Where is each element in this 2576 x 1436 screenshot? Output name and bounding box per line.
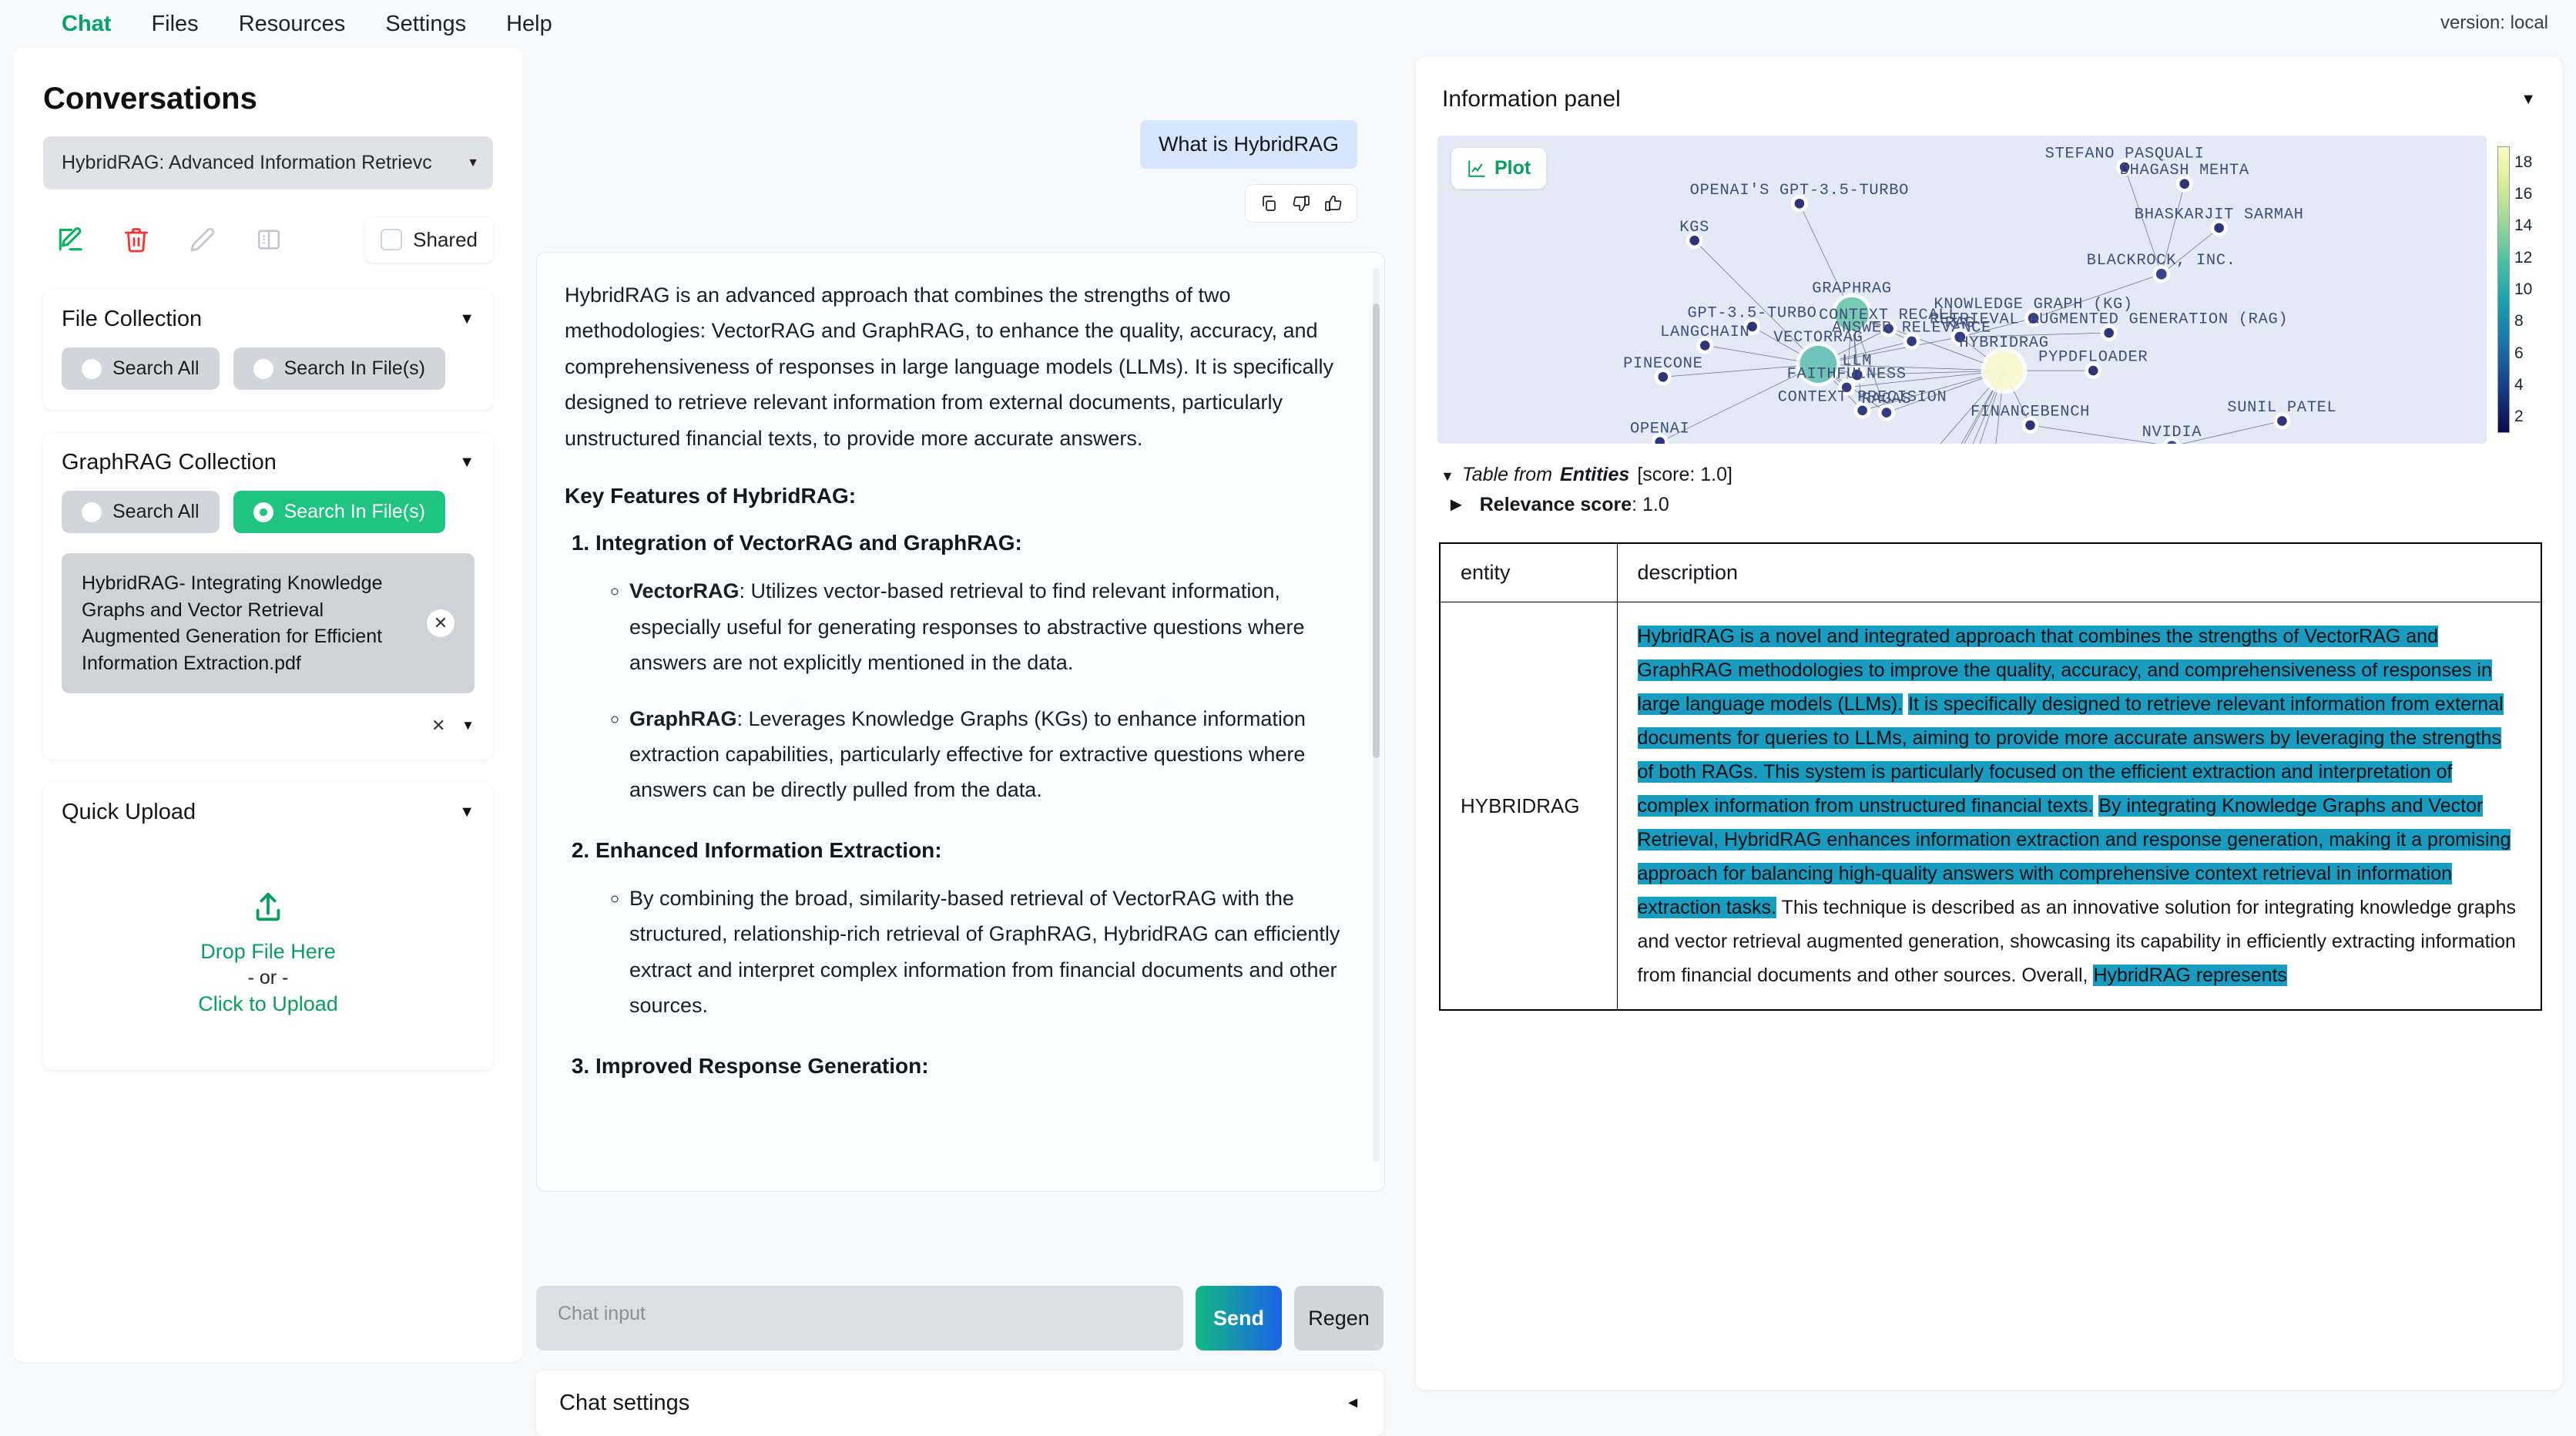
information-panel-header[interactable]: Information panel ▼: [1442, 86, 2536, 112]
file-collection-title: File Collection: [62, 307, 202, 332]
graphrag-collection-card: GraphRAG Collection ▼ Search All Search …: [43, 433, 493, 760]
header-entity: entity: [1440, 543, 1617, 602]
option-label: Search In File(s): [284, 501, 425, 523]
nav-item-settings[interactable]: Settings: [385, 12, 466, 37]
feature-item-1: Integration of VectorRAG and GraphRAG: V…: [595, 527, 1353, 808]
version-label: version: local: [2440, 12, 2548, 34]
chat-scroll-area: What is HybridRAG: [536, 57, 1397, 1266]
key-features-heading: Key Features of HybridRAG:: [565, 484, 1353, 508]
assistant-intro: HybridRAG is an advanced approach that c…: [565, 277, 1353, 456]
feature-2-sublist: By combining the broad, similarity-based…: [629, 881, 1353, 1024]
triangle-down-icon[interactable]: ▼: [1441, 468, 1454, 485]
graph-canvas: STEFANO PASQUALIDHAGASH MEHTABHASKARJIT …: [1437, 136, 2487, 444]
shared-label: Shared: [413, 228, 478, 252]
graph-node-label: PYPDFLOADER: [2038, 349, 2148, 367]
chat-settings-label: Chat settings: [559, 1391, 689, 1416]
assistant-scrollbar-thumb[interactable]: [1373, 304, 1380, 758]
relevance-label: Relevance score: [1480, 494, 1632, 515]
features-list: Integration of VectorRAG and GraphRAG: V…: [595, 527, 1353, 1082]
radio-dot-icon: [253, 359, 273, 379]
quick-upload-card: Quick Upload ▼ Drop File Here - or - Cli…: [43, 783, 493, 1070]
colorbar-tick: 4: [2514, 376, 2524, 394]
graph-node-label: OPENAI'S GPT-3.5-TURBO: [1690, 182, 1909, 200]
message-actions: [1245, 184, 1357, 223]
quick-upload-title: Quick Upload: [62, 800, 196, 825]
graph-node-label: BLACKROCK, INC.: [2087, 252, 2236, 270]
file-chip-footer: ✕ ▼: [62, 712, 475, 740]
chat-column: What is HybridRAG: [536, 48, 1397, 1436]
graph-node-label: BHASKARJIT SARMAH: [2135, 206, 2304, 223]
nav-item-help[interactable]: Help: [506, 12, 552, 37]
feature-item-2: Enhanced Information Extraction: By comb…: [595, 834, 1353, 1024]
nav-items: Chat Files Resources Settings Help: [62, 12, 552, 37]
feature-item-3: Improved Response Generation:: [595, 1050, 1353, 1082]
plot-button[interactable]: Plot: [1451, 148, 1546, 189]
colorbar-tick: 12: [2514, 249, 2532, 267]
user-message-row: What is HybridRAG: [536, 120, 1385, 169]
feature-2-title: Enhanced Information Extraction:: [595, 838, 942, 862]
colorbar: [2497, 146, 2510, 433]
information-panel-title: Information panel: [1442, 86, 1621, 112]
graphrag-search-all[interactable]: Search All: [62, 491, 220, 533]
information-panel: Information panel ▼ Plot STEFANO PASQUAL…: [1416, 57, 2562, 1390]
radio-dot-icon: [82, 502, 102, 522]
file-collection-options: Search All Search In File(s): [62, 347, 475, 390]
feature-3-title: Improved Response Generation:: [595, 1054, 929, 1078]
shared-checkbox[interactable]: [381, 229, 402, 250]
relevance-score-line[interactable]: ► Relevance score: 1.0: [1441, 494, 2537, 516]
delete-icon[interactable]: [120, 223, 153, 256]
colorbar-ticks: 24681012141618: [2514, 146, 2541, 433]
chevron-down-icon[interactable]: ▼: [459, 454, 475, 471]
graph-node-label: RAGAS: [1862, 391, 1912, 408]
graphrag-collection-header[interactable]: GraphRAG Collection ▼: [62, 450, 475, 475]
conversation-toolbar: Shared: [54, 213, 493, 267]
graph-node[interactable]: [1981, 347, 2028, 394]
clear-all-icon[interactable]: ✕: [424, 712, 452, 740]
chevron-down-icon[interactable]: ▼: [459, 804, 475, 821]
chevron-down-icon[interactable]: ▼: [459, 310, 475, 328]
entities-header: ▼ Table from Entities [score: 1.0] ► Rel…: [1441, 464, 2537, 516]
quick-upload-header[interactable]: Quick Upload ▼: [62, 800, 475, 825]
colorbar-tick: 6: [2514, 344, 2524, 363]
thumbs-down-icon[interactable]: [1292, 194, 1310, 213]
drop-file-label: Drop File Here: [62, 940, 475, 964]
selected-file-chip: HybridRAG- Integrating Knowledge Graphs …: [62, 553, 475, 693]
assistant-message: HybridRAG is an advanced approach that c…: [536, 252, 1385, 1192]
regen-button[interactable]: Regen: [1294, 1286, 1384, 1350]
graph-node-label: RETRIEVAL AUGMENTED GENERATION (RAG): [1930, 311, 2288, 329]
graph-node-label: OPENAI: [1630, 420, 1690, 438]
conversation-list-item[interactable]: HybridRAG: Advanced Information Retrievc…: [43, 136, 493, 190]
graph-edge: [1527, 442, 1660, 444]
feature-1-sublist: VectorRAG: Utilizes vector-based retriev…: [629, 573, 1353, 808]
nav-item-files[interactable]: Files: [151, 12, 198, 37]
cell-entity: HYBRIDRAG: [1440, 602, 1617, 1011]
conversation-title: HybridRAG: Advanced Information Retrievc: [62, 152, 432, 173]
plot-button-label: Plot: [1494, 157, 1531, 179]
vectorrag-label: VectorRAG: [629, 579, 740, 602]
table-from-label: Table from: [1462, 464, 1552, 486]
page-title: Conversations: [43, 82, 493, 116]
cell-description: HybridRAG is a novel and integrated appr…: [1617, 602, 2541, 1011]
graphrag-label: GraphRAG: [629, 707, 737, 730]
graph-node-label: PINECONE: [1623, 355, 1702, 373]
feature-1-sub-1: VectorRAG: Utilizes vector-based retriev…: [629, 573, 1353, 680]
feature-2-sub-1: By combining the broad, similarity-based…: [629, 881, 1353, 1024]
chevron-left-icon[interactable]: ◄: [1345, 1394, 1360, 1412]
chevron-down-icon[interactable]: ▼: [461, 718, 475, 733]
graph-node-label: FINANCEBENCH: [1971, 403, 2090, 421]
chat-input[interactable]: [536, 1286, 1183, 1350]
entities-table: entity description HYBRIDRAGHybridRAG is…: [1439, 542, 2542, 1011]
upload-dropzone[interactable]: Drop File Here - or - Click to Upload: [62, 840, 475, 1050]
graph-node-label: DHAGASH MEHTA: [2120, 162, 2249, 179]
click-to-upload-link[interactable]: Click to Upload: [62, 992, 475, 1016]
split-view-icon[interactable]: [253, 223, 285, 256]
graph-node-label: FAITHFULNESS: [1787, 365, 1907, 383]
thumbs-up-icon[interactable]: [1324, 194, 1343, 213]
graph-node-label: NVIDIA: [2142, 424, 2202, 441]
shared-toggle[interactable]: Shared: [365, 217, 493, 263]
plot-icon: [1467, 159, 1487, 179]
feature-1-sub-2: GraphRAG: Leverages Knowledge Graphs (KG…: [629, 701, 1353, 808]
feature-1-title: Integration of VectorRAG and GraphRAG:: [595, 531, 1022, 555]
or-label: - or -: [62, 967, 475, 989]
graphrag-collection-title: GraphRAG Collection: [62, 450, 277, 475]
file-collection-header[interactable]: File Collection ▼: [62, 307, 475, 332]
table-row: HYBRIDRAGHybridRAG is a novel and integr…: [1440, 602, 2541, 1011]
colorbar-tick: 14: [2514, 216, 2532, 235]
colorbar-tick: 2: [2514, 408, 2524, 426]
entities-label: Entities: [1560, 464, 1629, 486]
highlighted-text: HybridRAG represents: [2093, 965, 2286, 986]
graph-node-label: STEFANO PASQUALI: [2045, 145, 2205, 163]
entities-table-head: entity description: [1440, 543, 2541, 602]
colorbar-tick: 8: [2514, 312, 2524, 330]
entities-table-body: HYBRIDRAGHybridRAG is a novel and integr…: [1440, 602, 2541, 1011]
graph-node-label: GRAPHRAG: [1812, 280, 1891, 298]
radio-dot-icon: [253, 502, 273, 522]
option-label: Search In File(s): [284, 357, 425, 380]
conversations-sidebar: Conversations HybridRAG: Advanced Inform…: [14, 48, 522, 1362]
relevance-value: 1.0: [1642, 494, 1669, 515]
selected-file-name: HybridRAG- Integrating Knowledge Graphs …: [82, 570, 416, 676]
chevron-down-icon[interactable]: ▼: [2521, 91, 2536, 109]
graph-node-label: SUNIL PATEL: [2227, 399, 2336, 417]
graphrag-collection-options: Search All Search In File(s): [62, 491, 475, 533]
upload-icon: [62, 890, 475, 929]
graph-node-label: KGS: [1679, 219, 1709, 237]
header-description: description: [1617, 543, 2541, 602]
file-collection-search-in-files[interactable]: Search In File(s): [233, 347, 445, 390]
colorbar-tick: 18: [2514, 153, 2532, 172]
triangle-right-icon[interactable]: ►: [1447, 494, 1466, 516]
message-actions-row: [536, 184, 1385, 223]
colorbar-tick: 10: [2514, 280, 2532, 299]
nav-item-chat[interactable]: Chat: [62, 12, 111, 37]
table-from-entities-line[interactable]: ▼ Table from Entities [score: 1.0]: [1441, 464, 2537, 486]
nav-item-resources[interactable]: Resources: [239, 12, 346, 37]
chat-input-row: Send Regen: [536, 1286, 1397, 1350]
chevron-down-icon[interactable]: ▼: [467, 156, 479, 170]
graph-node-label: LANGCHAIN: [1660, 324, 1749, 341]
entities-score: [score: 1.0]: [1637, 464, 1732, 486]
table-header-row: entity description: [1440, 543, 2541, 602]
radio-dot-icon: [82, 359, 102, 379]
graphrag-search-in-files[interactable]: Search In File(s): [233, 491, 445, 533]
new-conversation-icon[interactable]: [54, 223, 86, 256]
graph-node-label: GPT-3.5-TURBO: [1688, 304, 1817, 322]
chat-settings-bar[interactable]: Chat settings ◄: [536, 1371, 1384, 1436]
knowledge-graph-plot[interactable]: Plot STEFANO PASQUALIDHAGASH MEHTABHASKA…: [1437, 136, 2487, 444]
colorbar-wrapper: 24681012141618: [2497, 136, 2541, 433]
option-label: Search All: [112, 501, 200, 523]
relevance-colon: :: [1632, 494, 1642, 515]
file-collection-search-all[interactable]: Search All: [62, 347, 220, 390]
colorbar-tick: 16: [2514, 185, 2532, 203]
user-message-bubble: What is HybridRAG: [1140, 120, 1357, 169]
top-navigation-bar: Chat Files Resources Settings Help versi…: [0, 0, 2576, 48]
send-button[interactable]: Send: [1196, 1286, 1282, 1350]
page-body: Conversations HybridRAG: Advanced Inform…: [0, 48, 2576, 1436]
remove-file-icon[interactable]: ✕: [427, 609, 454, 637]
rename-pencil-icon[interactable]: [186, 223, 219, 256]
graph-node-label: HYBRIDRAG: [1959, 334, 2048, 352]
copy-icon[interactable]: [1259, 194, 1278, 213]
plot-wrapper: Plot STEFANO PASQUALIDHAGASH MEHTABHASKA…: [1437, 136, 2541, 444]
option-label: Search All: [112, 357, 200, 380]
file-collection-card: File Collection ▼ Search All Search In F…: [43, 290, 493, 410]
